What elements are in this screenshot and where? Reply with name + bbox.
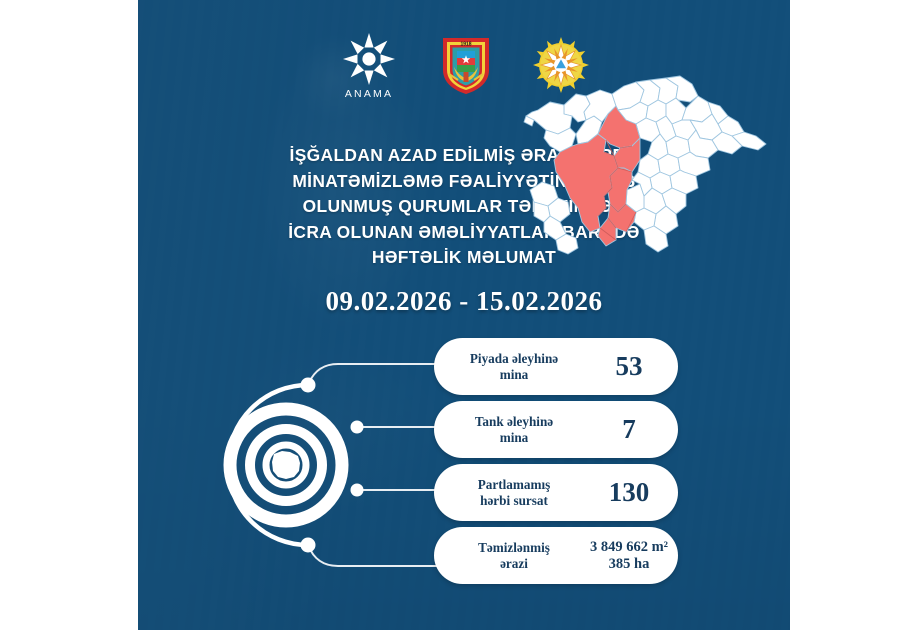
stat-card-value: 7 <box>580 416 678 443</box>
azerbaijan-map-svg <box>520 72 780 272</box>
value-line-2: 385 ha <box>580 556 678 573</box>
ministry-of-defence-emblem: 1918 <box>440 34 492 96</box>
anama-logo: ANAMA <box>338 32 400 98</box>
label-line-2: ərazi <box>448 556 580 572</box>
label-line-1: Təmizlənmiş <box>448 540 580 556</box>
stat-card-anti-personnel-mine[interactable]: Piyada əleyhinə mina 53 <box>434 338 678 395</box>
stats-diagram: Piyada əleyhinə mina 53 Tank əleyhinə mi… <box>138 330 790 600</box>
label-line-2: hərbi sursat <box>448 493 580 509</box>
stat-card-label: Təmizlənmiş ərazi <box>434 540 580 571</box>
date-range: 09.02.2026 - 15.02.2026 <box>164 286 764 317</box>
value-line-1: 3 849 662 m² <box>580 539 678 556</box>
stat-card-label: Tank əleyhinə mina <box>434 414 580 445</box>
stat-card-value: 130 <box>580 479 678 506</box>
label-line-1: Piyada əleyhinə <box>448 351 580 367</box>
stat-card-unexploded-ordnance[interactable]: Partlamamış hərbi sursat 130 <box>434 464 678 521</box>
infographic-root: ANAMA 1918 <box>0 0 923 630</box>
azerbaijan-map <box>520 72 780 272</box>
stat-card-cleared-area[interactable]: Təmizlənmiş ərazi 3 849 662 m² 385 ha <box>434 527 678 584</box>
stat-card-value: 3 849 662 m² 385 ha <box>580 539 678 573</box>
label-line-2: mina <box>448 430 580 446</box>
label-line-1: Partlamamış <box>448 477 580 493</box>
label-line-2: mina <box>448 367 580 383</box>
stat-card-label: Partlamamış hərbi sursat <box>434 477 580 508</box>
stat-card-value: 53 <box>580 353 678 380</box>
defence-shield-icon: 1918 <box>440 34 492 96</box>
anama-label: ANAMA <box>338 88 400 100</box>
mine-target-icon <box>230 409 342 521</box>
stat-card-anti-tank-mine[interactable]: Tank əleyhinə mina 7 <box>434 401 678 458</box>
stat-card-label: Piyada əleyhinə mina <box>434 351 580 382</box>
label-line-1: Tank əleyhinə <box>448 414 580 430</box>
poster-panel: ANAMA 1918 <box>138 0 790 630</box>
svg-text:1918: 1918 <box>460 42 471 48</box>
